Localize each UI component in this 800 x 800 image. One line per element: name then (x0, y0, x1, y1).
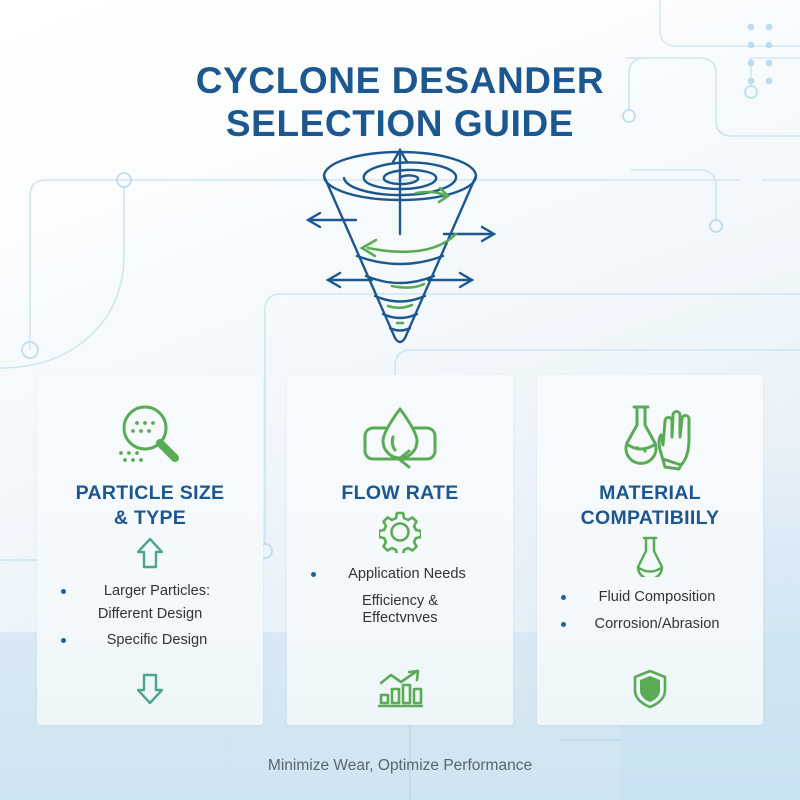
list-item: Effectvnves (297, 609, 503, 629)
infographic-page: CYCLONE DESANDER SELECTION GUIDE (0, 0, 800, 800)
arrow-up-icon (135, 531, 165, 575)
card-title-line-1: FLOW RATE (341, 482, 458, 504)
card-items-material-compatibility: Fluid Composition Corrosion/Abrasion (547, 581, 753, 641)
page-title: CYCLONE DESANDER SELECTION GUIDE (0, 59, 800, 146)
water-droplet-recycle-icon (361, 397, 439, 475)
bar-chart-growth-icon (377, 667, 423, 711)
list-item: Different Design (47, 605, 253, 625)
card-title-material-compatibility: MATERIAL COMPATIBIILY (581, 481, 720, 531)
page-title-line-1: CYCLONE DESANDER (196, 60, 604, 101)
card-title-line-2: & TYPE (114, 507, 186, 529)
footer-tagline: Minimize Wear, Optimize Performance (0, 757, 800, 775)
criteria-cards: PARTICLE SIZE & TYPE Larger Particles: D… (37, 375, 763, 725)
cyclone-funnel-icon (296, 138, 504, 346)
list-item: Corrosion/Abrasion (547, 615, 753, 635)
card-title-particle-size: PARTICLE SIZE & TYPE (76, 481, 225, 531)
card-particle-size[interactable]: PARTICLE SIZE & TYPE Larger Particles: D… (37, 375, 263, 725)
arrow-down-icon (135, 667, 165, 711)
list-item: Fluid Composition (547, 588, 753, 608)
card-title-line-2: COMPATIBIILY (581, 507, 720, 529)
list-item: Application Needs (297, 565, 503, 585)
card-title-line-1: MATERIAL (599, 482, 701, 504)
card-title-flow-rate: FLOW RATE (341, 481, 458, 506)
flask-glove-icon (607, 397, 693, 475)
card-items-particle-size: Larger Particles: Different Design Speci… (47, 575, 253, 658)
card-material-compatibility[interactable]: MATERIAL COMPATIBIILY Fluid Composition … (537, 375, 763, 725)
flask-icon (633, 531, 667, 581)
card-flow-rate[interactable]: FLOW RATE Application Needs Efficiency &… (287, 375, 513, 725)
list-item: Larger Particles: (47, 582, 253, 602)
list-item: Specific Design (47, 631, 253, 651)
shield-icon (631, 667, 669, 711)
card-title-line-1: PARTICLE SIZE (76, 482, 225, 504)
magnifier-particles-icon (113, 397, 187, 475)
gear-icon (379, 506, 421, 558)
card-items-flow-rate: Application Needs Efficiency & Effectvnv… (297, 558, 503, 636)
